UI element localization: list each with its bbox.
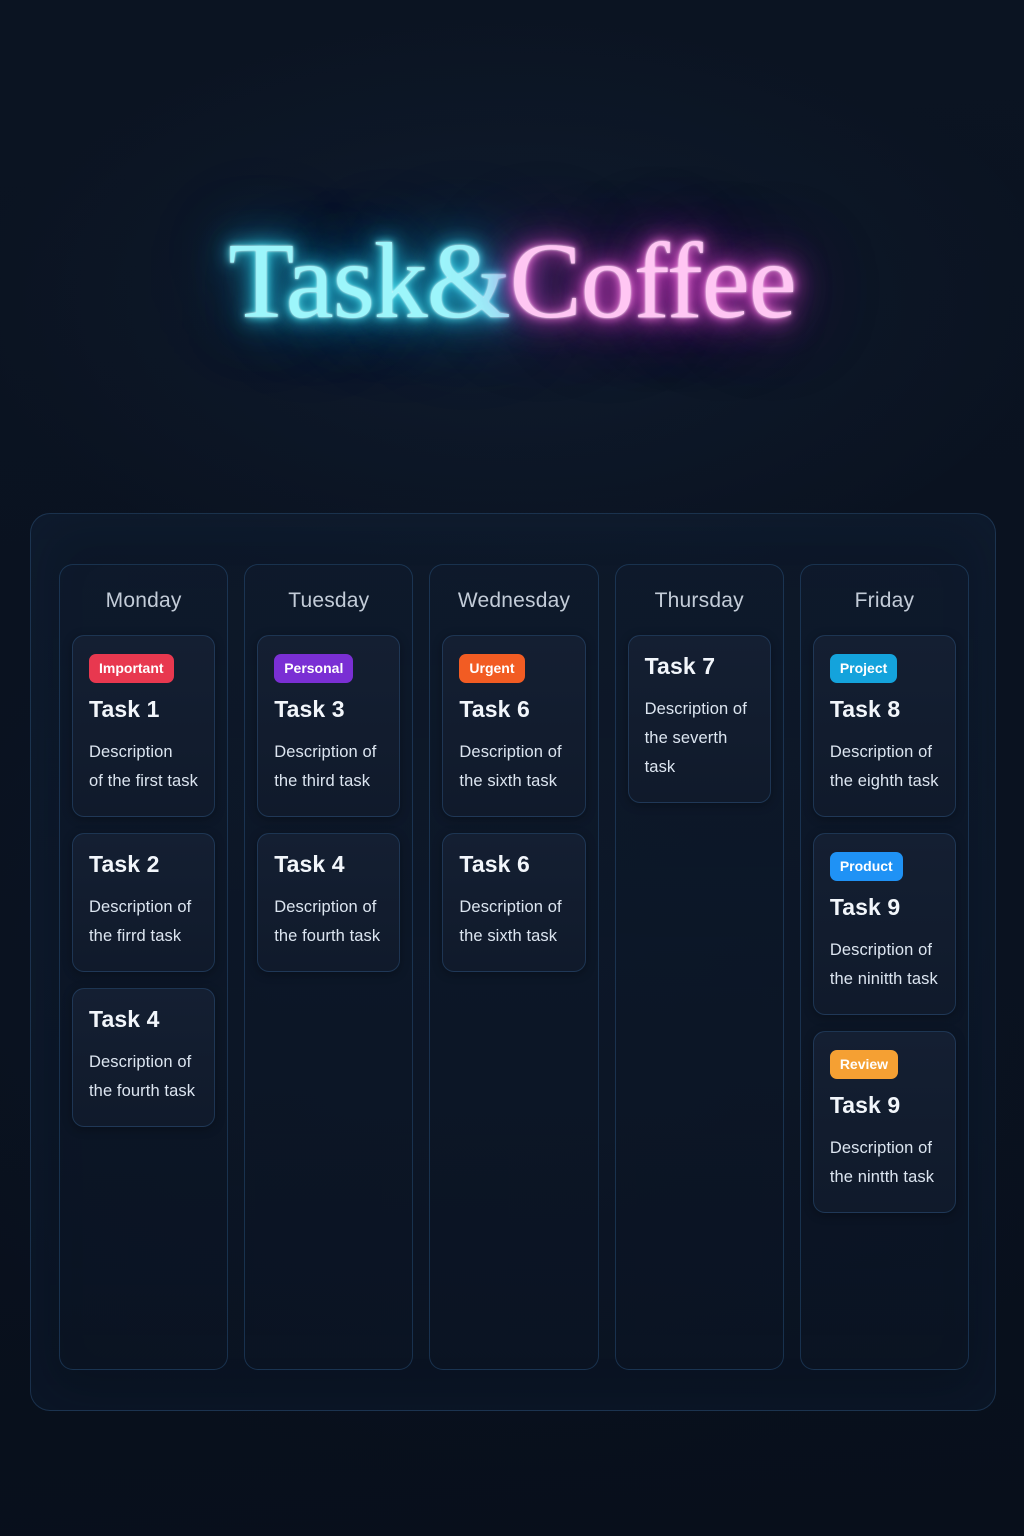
day-column-wednesday[interactable]: WednesdayUrgentTask 6Description ofthe s… <box>429 564 598 1370</box>
task-description-line: Description of <box>89 893 198 922</box>
task-card-list: PersonalTask 3Description ofthe third ta… <box>257 635 400 972</box>
task-card[interactable]: Task 7Description ofthe severth task <box>628 635 771 803</box>
task-badge[interactable]: Product <box>830 852 903 881</box>
task-title: Task 6 <box>459 852 568 877</box>
day-column-header: Tuesday <box>257 579 400 635</box>
task-description: Description ofthe ninitth task <box>830 936 939 994</box>
task-title: Task 9 <box>830 1093 939 1118</box>
task-title: Task 6 <box>459 697 568 722</box>
task-card-list: ImportantTask 1Descriptionof the first t… <box>72 635 215 1127</box>
day-column-header: Monday <box>72 579 215 635</box>
task-card[interactable]: ImportantTask 1Descriptionof the first t… <box>72 635 215 817</box>
task-card[interactable]: ReviewTask 9Description ofthe nintth tas… <box>813 1031 956 1213</box>
task-card[interactable]: ProductTask 9Description ofthe ninitth t… <box>813 833 956 1015</box>
day-column-header: Thursday <box>628 579 771 635</box>
task-card[interactable]: ProjectTask 8Description ofthe eighth ta… <box>813 635 956 817</box>
task-card-list: UrgentTask 6Description ofthe sixth task… <box>442 635 585 972</box>
task-description-line: the ninitth task <box>830 965 939 994</box>
task-description-line: the fourth task <box>274 922 383 951</box>
task-title: Task 2 <box>89 852 198 877</box>
task-badge[interactable]: Important <box>89 654 174 683</box>
task-card-list: Task 7Description ofthe severth task <box>628 635 771 803</box>
task-description: Descriptionof the first task <box>89 738 198 796</box>
task-card[interactable]: Task 4Description ofthe fourth task <box>72 988 215 1127</box>
task-title: Task 7 <box>645 654 754 679</box>
task-card[interactable]: PersonalTask 3Description ofthe third ta… <box>257 635 400 817</box>
task-description-line: the nintth task <box>830 1163 939 1192</box>
task-description-line: the firrd task <box>89 922 198 951</box>
app-header: Task&Coffee <box>0 228 1024 378</box>
task-description-line: Description of <box>645 695 754 724</box>
task-card[interactable]: Task 2Description ofthe firrd task <box>72 833 215 972</box>
task-title: Task 8 <box>830 697 939 722</box>
task-description-line: Description of <box>830 1134 939 1163</box>
task-description: Description ofthe fourth task <box>89 1048 198 1106</box>
day-column-monday[interactable]: MondayImportantTask 1Descriptionof the f… <box>59 564 228 1370</box>
day-column-tuesday[interactable]: TuesdayPersonalTask 3Description ofthe t… <box>244 564 413 1370</box>
task-description: Description ofthe sixth task <box>459 893 568 951</box>
day-column-header: Friday <box>813 579 956 635</box>
task-description-line: the severth task <box>645 724 754 782</box>
task-description-line: the sixth task <box>459 767 568 796</box>
app-title-primary: Task& <box>228 228 509 336</box>
task-description-line: Description of <box>830 936 939 965</box>
task-card[interactable]: UrgentTask 6Description ofthe sixth task <box>442 635 585 817</box>
task-description-line: the third task <box>274 767 383 796</box>
task-description-line: Description of <box>274 738 383 767</box>
task-description-line: the sixth task <box>459 922 568 951</box>
task-title: Task 1 <box>89 697 198 722</box>
task-badge[interactable]: Project <box>830 654 897 683</box>
task-description: Description ofthe sixth task <box>459 738 568 796</box>
task-title: Task 4 <box>89 1007 198 1032</box>
day-column-friday[interactable]: FridayProjectTask 8Description ofthe eig… <box>800 564 969 1370</box>
task-description-line: Description of <box>459 893 568 922</box>
task-title: Task 9 <box>830 895 939 920</box>
task-badge[interactable]: Urgent <box>459 654 524 683</box>
board-columns: MondayImportantTask 1Descriptionof the f… <box>59 564 969 1370</box>
board-panel: MondayImportantTask 1Descriptionof the f… <box>30 513 996 1411</box>
task-description: Description ofthe eighth task <box>830 738 939 796</box>
task-description-line: the eighth task <box>830 767 939 796</box>
day-column-thursday[interactable]: ThursdayTask 7Description ofthe severth … <box>615 564 784 1370</box>
app-title: Task&Coffee <box>228 228 795 336</box>
task-description-line: Description of <box>830 738 939 767</box>
task-badge[interactable]: Review <box>830 1050 898 1079</box>
task-description: Description ofthe fourth task <box>274 893 383 951</box>
app-title-secondary: Coffee <box>510 228 796 336</box>
task-title: Task 4 <box>274 852 383 877</box>
task-description-line: Description of <box>274 893 383 922</box>
task-card-list: ProjectTask 8Description ofthe eighth ta… <box>813 635 956 1213</box>
task-description-line: Description of <box>89 1048 198 1077</box>
task-card[interactable]: Task 6Description ofthe sixth task <box>442 833 585 972</box>
task-description-line: of the first task <box>89 767 198 796</box>
task-description: Description ofthe nintth task <box>830 1134 939 1192</box>
task-description-line: the fourth task <box>89 1077 198 1106</box>
day-column-header: Wednesday <box>442 579 585 635</box>
task-description: Description ofthe severth task <box>645 695 754 782</box>
task-card[interactable]: Task 4Description ofthe fourth task <box>257 833 400 972</box>
task-badge[interactable]: Personal <box>274 654 353 683</box>
task-description: Description ofthe firrd task <box>89 893 198 951</box>
task-description-line: Description of <box>459 738 568 767</box>
task-description-line: Description <box>89 738 198 767</box>
task-description: Description ofthe third task <box>274 738 383 796</box>
task-title: Task 3 <box>274 697 383 722</box>
